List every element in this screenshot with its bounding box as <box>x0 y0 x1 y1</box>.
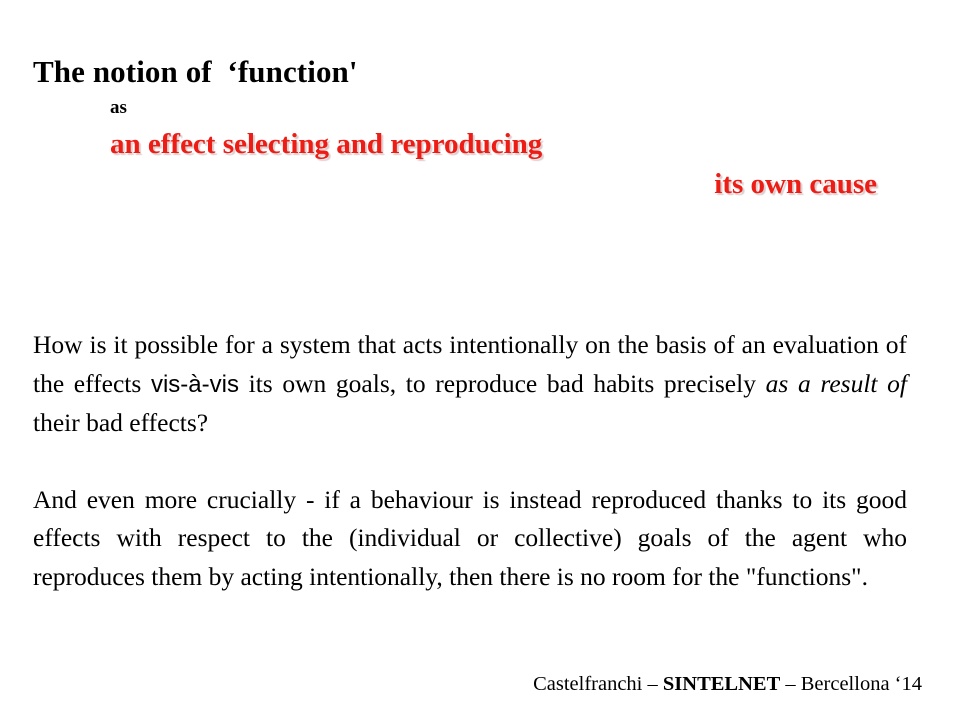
paragraph-one-part-3: their bad effects? <box>33 408 208 437</box>
title-red-line-1: an effect selecting and reproducing <box>110 127 923 162</box>
paragraph-one: How is it possible for a system that act… <box>33 326 907 443</box>
footer-location: – Bercellona ‘14 <box>780 673 922 695</box>
title-red-line-2: its own cause <box>110 167 923 202</box>
paragraph-two: And even more crucially - if a behaviour… <box>33 481 907 597</box>
page-title: The notion of ‘function' <box>33 56 923 89</box>
body-block: How is it possible for a system that act… <box>33 326 907 596</box>
footer-credit: Castelfranchi – SINTELNET – Bercellona ‘… <box>0 672 922 697</box>
paragraph-two-text: And even more crucially - if a behaviour… <box>33 485 907 591</box>
paragraph-one-part-2: its own goals, to reproduce bad habits p… <box>239 369 766 398</box>
slide-canvas: The notion of ‘function' as an effect se… <box>0 0 960 720</box>
footer-event: SINTELNET <box>663 673 780 695</box>
title-block: The notion of ‘function' as an effect se… <box>33 56 923 202</box>
footer-author: Castelfranchi – <box>533 673 663 695</box>
title-connector: as <box>110 98 923 119</box>
paragraph-one-emphasis-italic: as a result of <box>766 369 907 398</box>
paragraph-one-emphasis-sans: vis-à-vis <box>151 371 239 398</box>
